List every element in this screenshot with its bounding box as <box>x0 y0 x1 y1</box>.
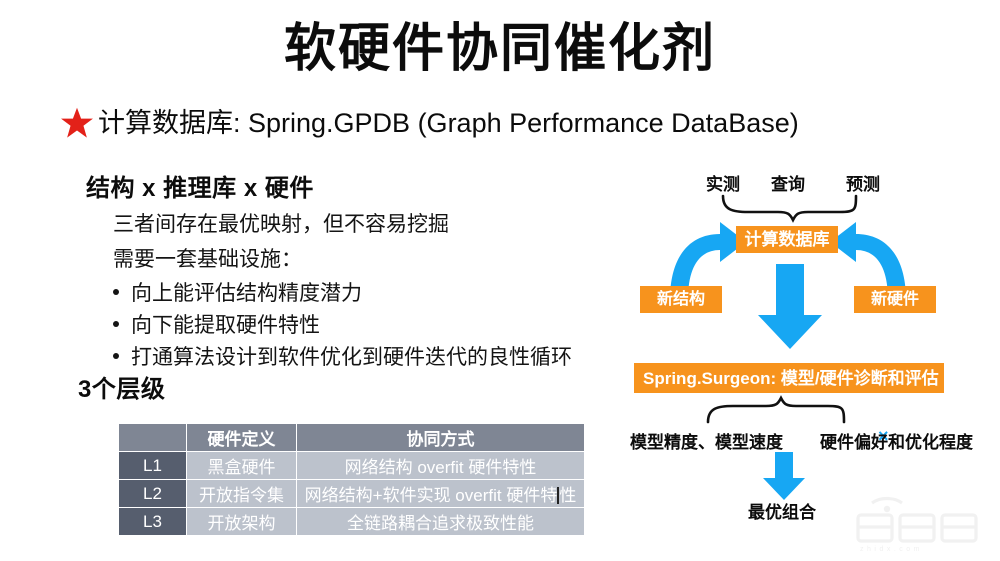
list-item: 打通算法设计到软件优化到硬件迭代的良性循环 <box>113 341 572 371</box>
body-line-mapping: 三者间存在最优映射，但不容易挖掘 <box>113 208 449 238</box>
red-star-icon <box>60 106 94 140</box>
box-new-hardware: 新硬件 <box>854 286 936 313</box>
method-text-after-caret: 性 <box>559 486 576 505</box>
diagram-label-model-metrics: 模型精度、模型速度 <box>630 428 783 453</box>
body-line-infrastructure: 需要一套基础设施： <box>113 243 302 273</box>
table-row: L1 黑盒硬件 网络结构 overfit 硬件特性 <box>119 452 585 480</box>
table-header-method: 协同方式 <box>297 424 585 452</box>
method-text-before-caret: 网络结构+软件实现 overfit 硬件特 <box>305 486 558 505</box>
table-cell-method: 网络结构 overfit 硬件特性 <box>297 452 585 480</box>
list-item-label: 向上能评估结构精度潜力 <box>131 277 362 307</box>
section-heading-structure: 结构 x 推理库 x 硬件 <box>86 168 314 203</box>
diagram-label-hardware-pref: 硬件偏好和优化程度 <box>820 428 973 453</box>
watermark-logo-icon: zhidx.com <box>842 493 992 555</box>
bullet-dot-icon <box>113 353 119 359</box>
table-row: L2 开放指令集 网络结构+软件实现 overfit 硬件特性 <box>119 480 585 508</box>
diagram-label-measured: 实测 <box>706 170 740 195</box>
slide-canvas: 软硬件协同催化剂 计算数据库: Spring.GPDB (Graph Perfo… <box>0 0 1000 561</box>
list-item: 向上能评估结构精度潜力 <box>113 277 362 307</box>
diagram-label-predict: 预测 <box>846 170 880 195</box>
table-row: L3 开放架构 全链路耦合追求极致性能 <box>119 508 585 536</box>
section-heading-levels: 3个层级 <box>78 369 165 404</box>
list-item-label: 打通算法设计到软件优化到硬件迭代的良性循环 <box>131 341 572 371</box>
subtitle-row: 计算数据库: Spring.GPDB (Graph Performance Da… <box>60 106 799 140</box>
table-header-row: 硬件定义 协同方式 <box>119 424 585 452</box>
levels-table: 硬件定义 协同方式 L1 黑盒硬件 网络结构 overfit 硬件特性 L2 开… <box>118 423 585 536</box>
overbrace-bottom-icon <box>708 398 844 422</box>
diagram-label-optimal-combo: 最优组合 <box>748 498 816 523</box>
diagram-vector-layer <box>608 160 1000 550</box>
list-item: 向下能提取硬件特性 <box>113 309 320 339</box>
page-title: 软硬件协同催化剂 <box>0 20 1000 80</box>
bullet-dot-icon <box>113 321 119 327</box>
table-cell-definition: 开放指令集 <box>187 480 297 508</box>
watermark-text: zhidx.com <box>860 546 923 553</box>
table-cell-level: L1 <box>119 452 187 480</box>
table-cell-level: L2 <box>119 480 187 508</box>
table-header-definition: 硬件定义 <box>187 424 297 452</box>
down-arrow-result-icon <box>763 452 805 500</box>
subtitle-text: 计算数据库: Spring.GPDB (Graph Performance Da… <box>98 107 799 139</box>
box-compute-database: 计算数据库 <box>736 226 838 253</box>
table-cell-method: 全链路耦合追求极致性能 <box>297 508 585 536</box>
table-cell-method: 网络结构+软件实现 overfit 硬件特性 <box>297 480 585 508</box>
table-cell-level: L3 <box>119 508 187 536</box>
list-item-label: 向下能提取硬件特性 <box>131 309 320 339</box>
table-header-blank <box>119 424 187 452</box>
diagram-label-query: 查询 <box>771 170 805 195</box>
box-spring-surgeon: Spring.Surgeon: 模型/硬件诊断和评估 <box>634 363 944 393</box>
architecture-diagram: 实测 查询 预测 <box>608 160 1000 550</box>
table-cell-definition: 开放架构 <box>187 508 297 536</box>
box-new-structure: 新结构 <box>640 286 722 313</box>
down-arrow-main-icon <box>758 264 822 349</box>
table-cell-definition: 黑盒硬件 <box>187 452 297 480</box>
underbrace-top-icon <box>723 196 856 220</box>
bullet-dot-icon <box>113 289 119 295</box>
